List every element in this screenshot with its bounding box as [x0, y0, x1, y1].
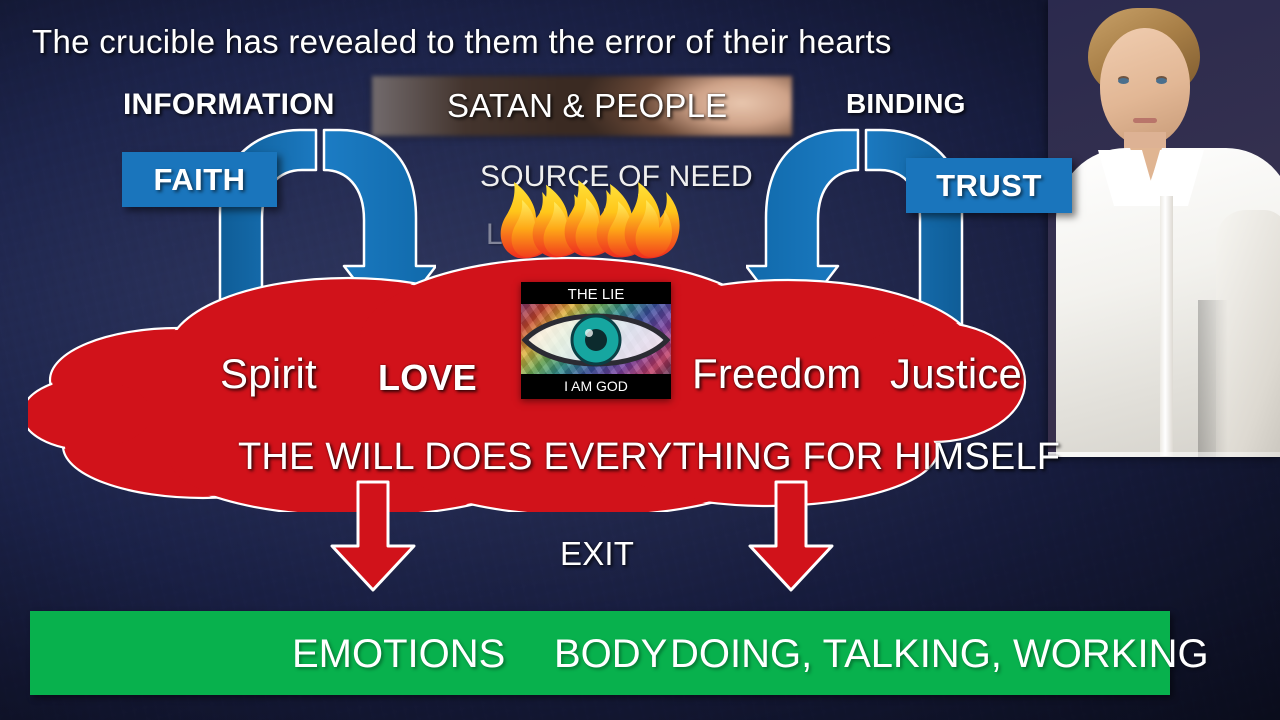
presenter-photo-edge — [1048, 452, 1280, 457]
trust-box: TRUST — [906, 158, 1072, 213]
label-information: INFORMATION — [123, 88, 335, 122]
green-bar-body: BODY — [554, 632, 667, 677]
presenter-face — [1100, 28, 1190, 146]
flame-icon — [500, 160, 690, 260]
slide-canvas: The crucible has revealed to them the er… — [0, 0, 1280, 720]
arrow-down-icon-left — [330, 480, 416, 592]
green-bar-emotions: EMOTIONS — [292, 632, 505, 677]
presenter-photo — [1048, 0, 1280, 457]
faith-box: FAITH — [122, 152, 277, 207]
label-exit: EXIT — [560, 535, 634, 573]
presenter-arm-shadow — [1198, 300, 1228, 457]
eye-shape — [521, 304, 671, 374]
eye-icon — [521, 304, 671, 374]
the-lie-bottom-label: I AM GOD — [521, 378, 671, 394]
presenter-mouth — [1133, 118, 1157, 123]
trust-box-label: TRUST — [906, 168, 1072, 204]
label-binding: BINDING — [846, 88, 966, 120]
cloud-statement: THE WILL DOES EVERYTHING FOR HIMSELF — [238, 436, 1060, 479]
presenter-eye-right — [1156, 78, 1167, 84]
page-title: The crucible has revealed to them the er… — [32, 23, 892, 61]
faith-box-label: FAITH — [122, 162, 277, 198]
cloud-word-spirit: Spirit — [220, 350, 317, 398]
presenter-shirt-placket — [1160, 196, 1173, 456]
the-lie-card: THE LIE I AM GOD — [521, 282, 671, 399]
cloud-word-justice: Justice — [890, 350, 1022, 398]
arrow-down-icon-right — [748, 480, 834, 592]
cloud-word-freedom: Freedom — [692, 350, 861, 398]
presenter-eye-left — [1118, 78, 1129, 84]
green-bar-actions: DOING, TALKING, WORKING — [670, 632, 1209, 677]
the-lie-top-label: THE LIE — [521, 286, 671, 303]
cloud-word-love: LOVE — [378, 357, 477, 399]
label-satan-and-people: SATAN & PEOPLE — [447, 87, 727, 125]
